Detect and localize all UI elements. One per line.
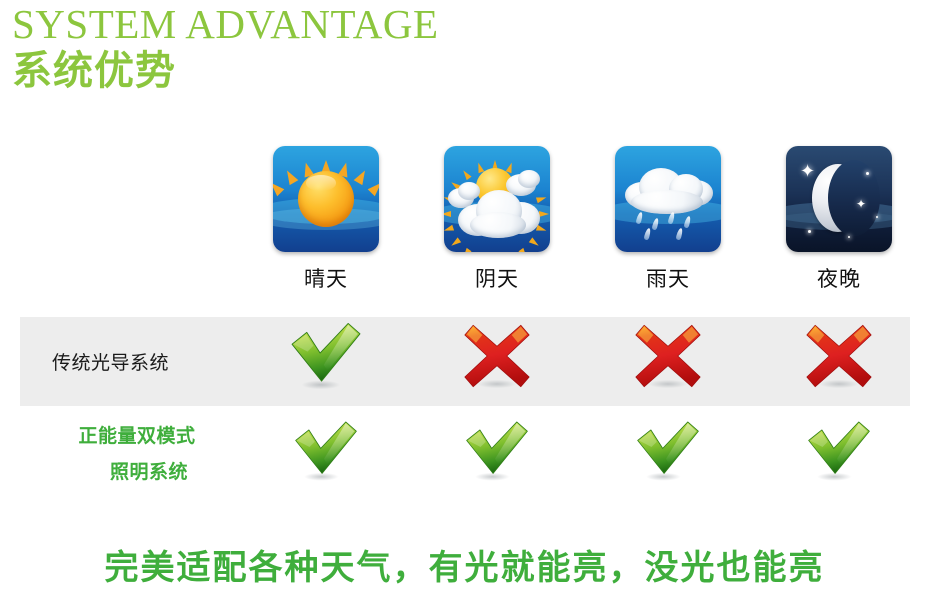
- weather-label-cloudy: 阴天: [437, 263, 557, 293]
- sun-graphic: [287, 160, 365, 238]
- cloudy-icon: [444, 146, 550, 252]
- comparison-row-2-marks: [0, 415, 929, 495]
- weather-header-row: 晴天 阴天: [0, 146, 929, 296]
- check-mark-icon: [635, 415, 701, 487]
- check-mark-icon: [289, 322, 363, 390]
- mark-cell-row2-cloudy: [437, 415, 557, 495]
- mark-cell-row1-rainy: [608, 322, 728, 402]
- weather-label-sunny: 晴天: [266, 263, 386, 293]
- tagline: 完美适配各种天气，有光就能亮，没光也能亮: [0, 540, 929, 589]
- rainy-icon: [615, 146, 721, 252]
- mark-cell-row1-cloudy: [437, 322, 557, 402]
- slide-root: SYSTEM ADVANTAGE 系统优势 晴天: [0, 0, 929, 595]
- check-mark-icon: [293, 415, 359, 487]
- mark-cell-row2-night: [779, 415, 899, 495]
- weather-label-rainy: 雨天: [608, 263, 728, 293]
- page-title: SYSTEM ADVANTAGE 系统优势: [12, 2, 439, 94]
- title-chinese: 系统优势: [12, 48, 439, 94]
- mark-cell-row1-sunny: [266, 322, 386, 402]
- mark-cell-row2-sunny: [266, 415, 386, 495]
- sunny-icon: [273, 146, 379, 252]
- night-icon: ✦ ✦: [786, 146, 892, 252]
- weather-column-sunny: 晴天: [266, 146, 386, 293]
- weather-label-night: 夜晚: [779, 263, 899, 293]
- weather-column-rainy: 雨天: [608, 146, 728, 293]
- weather-column-cloudy: 阴天: [437, 146, 557, 293]
- mark-cell-row1-night: [779, 322, 899, 402]
- cross-mark-icon: [804, 322, 874, 390]
- mark-cell-row2-rainy: [608, 415, 728, 495]
- weather-column-night: ✦ ✦ 夜晚: [779, 146, 899, 293]
- cross-mark-icon: [633, 322, 703, 390]
- cross-mark-icon: [462, 322, 532, 390]
- check-mark-icon: [464, 415, 530, 487]
- check-mark-icon: [806, 415, 872, 487]
- comparison-row-1-marks: [0, 322, 929, 402]
- title-english: SYSTEM ADVANTAGE: [12, 2, 439, 46]
